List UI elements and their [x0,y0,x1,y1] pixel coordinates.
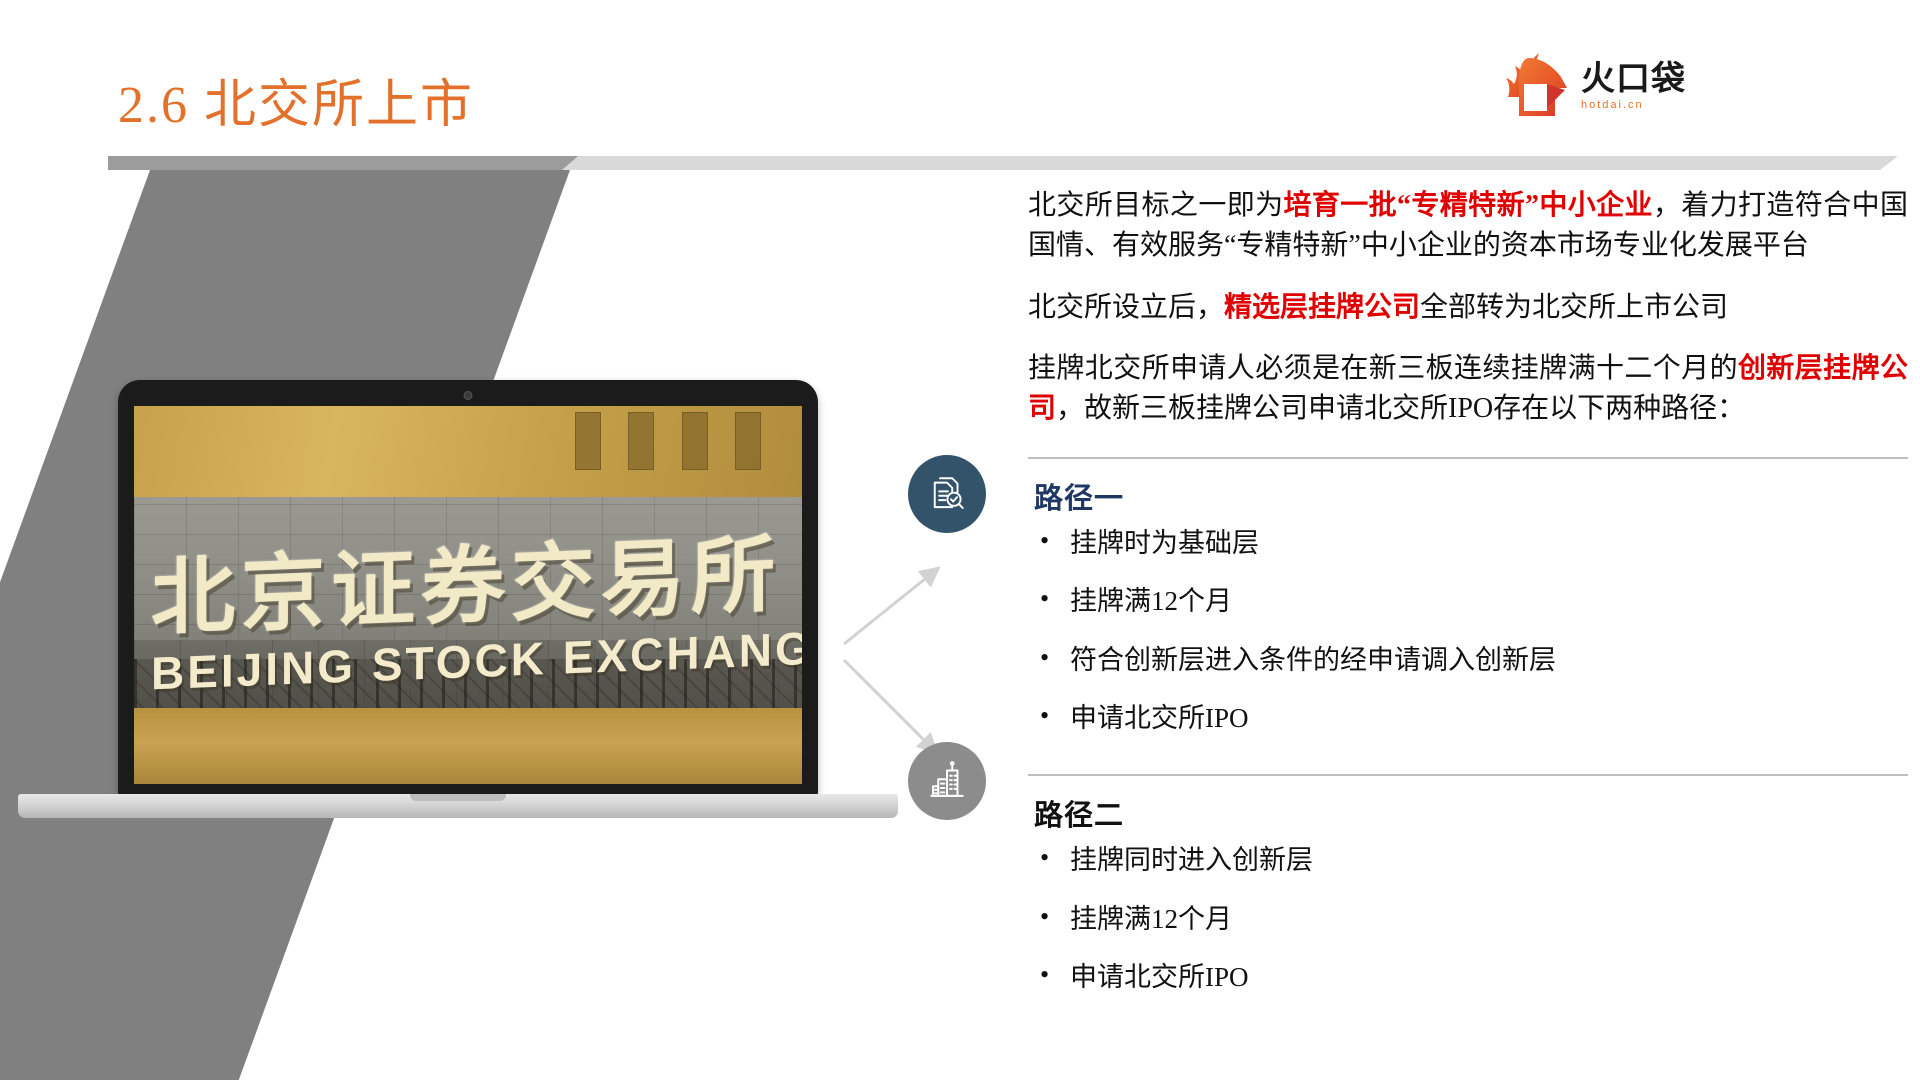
bullet-list-path-one: 挂牌时为基础层挂牌满12个月符合创新层进入条件的经申请调入创新层申请北交所IPO [1034,527,1908,735]
laptop-screen: 北京证券交易所 BEIJING STOCK EXCHANGE [134,406,802,784]
section-heading-path-one: 路径一 [1034,475,1908,517]
bullet-item: 挂牌满12个月 [1034,903,1908,935]
section-path-two: 路径二 挂牌同时进入创新层挂牌满12个月申请北交所IPO [1028,774,1908,993]
header-rule-dark [108,156,578,170]
bullet-item: 符合创新层进入条件的经申请调入创新层 [1034,644,1908,676]
bullet-list-path-two: 挂牌同时进入创新层挂牌满12个月申请北交所IPO [1034,844,1908,993]
paragraph-run: 挂牌北交所申请人必须是在新三板连续挂牌满十二个月的 [1028,353,1738,384]
bullet-item: 申请北交所IPO [1034,961,1908,993]
arrow-to-path-one-icon [838,560,948,650]
photo-upper-facade [134,406,802,504]
section-divider [1028,774,1908,776]
beijing-stock-exchange-photo: 北京证券交易所 BEIJING STOCK EXCHANGE [134,406,802,784]
office-building-icon [908,742,986,820]
bullet-item: 挂牌同时进入创新层 [1034,844,1908,876]
laptop-base-notch [410,794,506,801]
section-divider [1028,457,1908,459]
slide-root: 2.6 北交所上市 火口袋 hotdai [0,0,1920,1080]
section-path-one: 路径一 挂牌时为基础层挂牌满12个月符合创新层进入条件的经申请调入创新层申请北交… [1028,457,1908,735]
section-heading-path-two: 路径二 [1034,792,1908,834]
logo-wordmark: 火口袋 [1581,62,1686,96]
document-check-search-icon [908,455,986,533]
bullet-item: 申请北交所IPO [1034,702,1908,734]
header-rule [108,152,1918,174]
paragraph-run: ，故新三板挂牌公司申请北交所IPO存在以下两种路径： [1056,393,1745,424]
laptop-mockup: 北京证券交易所 BEIJING STOCK EXCHANGE [18,380,898,830]
paragraph-3: 挂牌北交所申请人必须是在新三板连续挂牌满十二个月的创新层挂牌公司，故新三板挂牌公… [1028,349,1908,429]
laptop-camera-icon [464,391,473,400]
brand-logo: 火口袋 hotdai.cn [1495,48,1735,124]
paragraph-highlight-run: 培育一批“专精特新”中小企业 [1283,190,1652,221]
laptop-lid: 北京证券交易所 BEIJING STOCK EXCHANGE [118,380,818,798]
paragraph-run: 北交所目标之一即为 [1028,190,1283,221]
bullet-item: 挂牌时为基础层 [1034,527,1908,559]
paragraph-run: 北交所设立后， [1028,292,1224,323]
paragraph-highlight-run: 精选层挂牌公司 [1224,292,1420,323]
page-title: 2.6 北交所上市 [118,62,474,137]
bullet-item: 挂牌满12个月 [1034,585,1908,617]
flame-fox-logo-icon [1495,50,1571,122]
paragraph-run: 全部转为北交所上市公司 [1420,292,1728,323]
content-column: 北交所目标之一即为培育一批“专精特新”中小企业，着力打造符合中国国情、有效服务“… [1028,186,1908,993]
photo-ground [134,708,802,784]
paragraph-2: 北交所设立后，精选层挂牌公司全部转为北交所上市公司 [1028,288,1908,328]
logo-domain: hotdai.cn [1581,100,1644,111]
paragraph-1: 北交所目标之一即为培育一批“专精特新”中小企业，着力打造符合中国国情、有效服务“… [1028,186,1908,266]
